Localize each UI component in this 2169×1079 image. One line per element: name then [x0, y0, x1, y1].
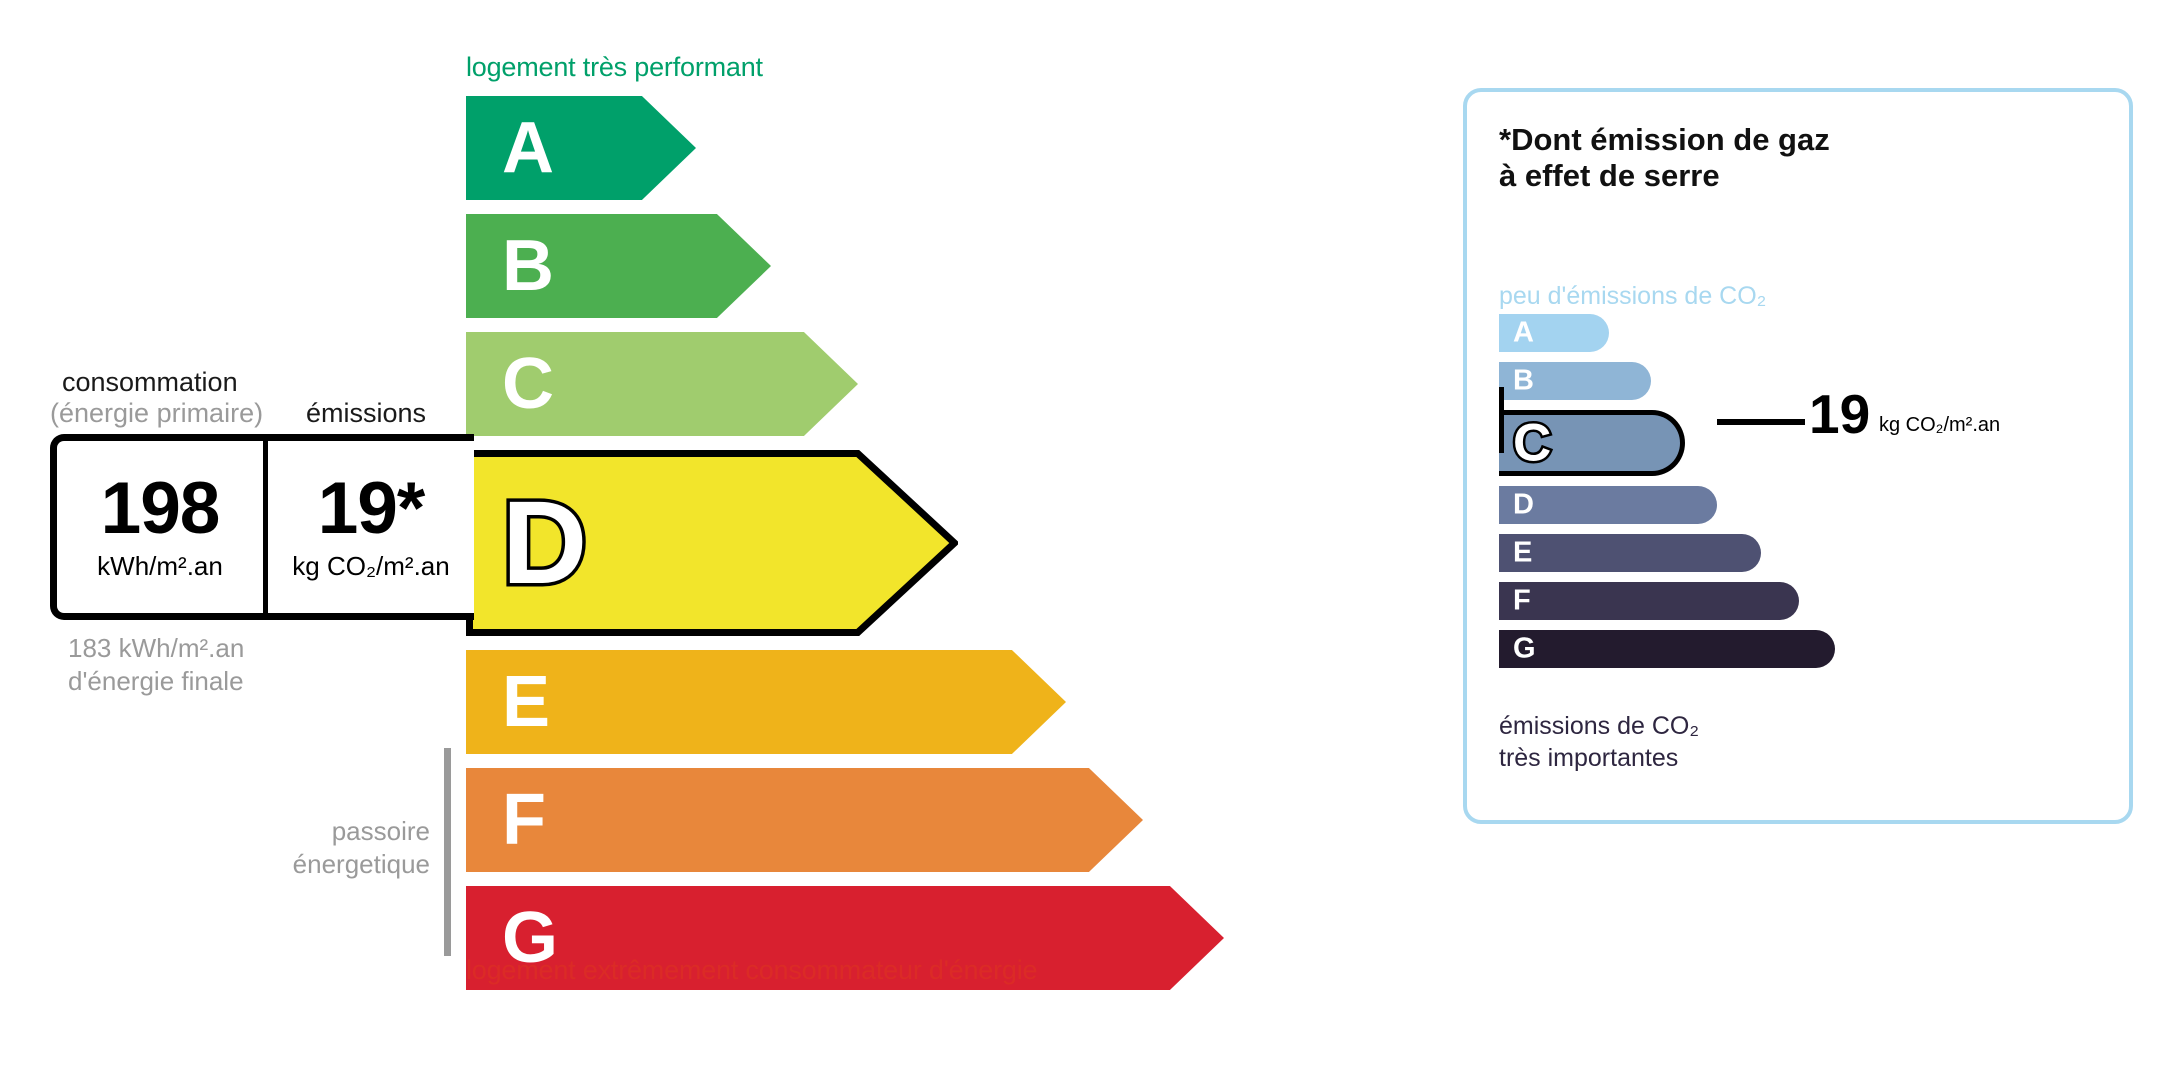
energy-band-e: E — [466, 650, 1066, 754]
ges-top-caption: peu d'émissions de CO₂ — [1499, 282, 1766, 311]
consumption-cell: 198 kWh/m².an — [57, 441, 268, 613]
final-energy-footnote: 183 kWh/m².an d'énergie finale — [68, 632, 244, 699]
energy-band-letter-e: E — [502, 666, 550, 738]
emissions-value: 19* — [318, 472, 425, 545]
ges-bar-letter-f: F — [1513, 587, 1531, 616]
passoire-label-line2: énergetique — [170, 848, 430, 881]
ges-bottom-caption-line1: émissions de CO₂ — [1499, 710, 1699, 742]
ges-callout-leader-line — [1717, 419, 1805, 425]
ges-title: *Dont émission de gaz à effet de serre — [1499, 122, 1830, 194]
ges-bar-letter-e: E — [1513, 539, 1532, 568]
ges-bar-c: C — [1499, 410, 1685, 476]
ges-callout-unit: kg CO₂/m².an — [1879, 414, 2000, 437]
passoire-label-line1: passoire — [170, 815, 430, 848]
energy-band-shape-f — [466, 768, 1143, 872]
energy-band-shape-e — [466, 650, 1066, 754]
energy-performance-panel: logement très performant ABCDEFG consomm… — [0, 0, 1380, 1079]
consumption-value: 198 — [101, 472, 220, 545]
energy-band-f: F — [466, 768, 1143, 872]
energy-band-letter-d: D — [502, 484, 587, 602]
emissions-unit: kg CO₂/m².an — [292, 551, 449, 582]
energy-band-letter-c: C — [502, 348, 554, 420]
passoire-label: passoire énergetique — [170, 815, 430, 882]
ges-bar-d: D — [1499, 486, 1717, 524]
ges-bar-letter-a: A — [1513, 319, 1534, 348]
consumption-header-line1: consommation — [62, 367, 238, 398]
energy-bottom-caption: logement extrêmement consommateur d'éner… — [466, 955, 1037, 986]
ges-bar-letter-b: B — [1513, 367, 1534, 396]
energy-band-b: B — [466, 214, 771, 318]
ges-bar-a: A — [1499, 314, 1609, 352]
ges-bottom-caption-line2: très importantes — [1499, 742, 1699, 774]
energy-band-d: D — [466, 450, 958, 636]
consumption-unit: kWh/m².an — [97, 551, 223, 582]
greenhouse-gas-panel: *Dont émission de gaz à effet de serre p… — [1463, 88, 2133, 824]
ges-title-line2: à effet de serre — [1499, 158, 1830, 194]
ges-bar-letter-g: G — [1513, 635, 1536, 664]
value-readout-box: 198 kWh/m².an 19* kg CO₂/m².an — [50, 434, 474, 620]
emissions-header: émissions — [306, 398, 426, 429]
ges-bar-b: B — [1499, 362, 1651, 400]
ges-bar-e: E — [1499, 534, 1761, 572]
ges-bar-letter-c: C — [1513, 417, 1551, 470]
ges-bar-letter-d: D — [1513, 491, 1534, 520]
ges-selected-left-edge — [1499, 387, 1504, 453]
consumption-header-line2: (énergie primaire) — [50, 398, 263, 429]
energy-band-letter-f: F — [502, 784, 546, 856]
energy-top-caption: logement très performant — [466, 52, 763, 83]
final-energy-line1: 183 kWh/m².an — [68, 632, 244, 665]
ges-callout-value: 19 — [1809, 387, 1870, 442]
energy-band-letter-b: B — [502, 230, 554, 302]
final-energy-line2: d'énergie finale — [68, 665, 244, 698]
energy-band-letter-a: A — [502, 112, 554, 184]
ges-bottom-caption: émissions de CO₂ très importantes — [1499, 710, 1699, 774]
energy-band-shape-a — [466, 96, 696, 200]
passoire-marker-bar — [444, 748, 451, 956]
ges-title-line1: *Dont émission de gaz — [1499, 122, 1830, 158]
dpe-infographic: logement très performant ABCDEFG consomm… — [0, 0, 2169, 1079]
energy-band-c: C — [466, 332, 858, 436]
energy-band-a: A — [466, 96, 696, 200]
ges-bar-g: G — [1499, 630, 1835, 668]
emissions-cell: 19* kg CO₂/m².an — [268, 441, 474, 613]
ges-bar-f: F — [1499, 582, 1799, 620]
